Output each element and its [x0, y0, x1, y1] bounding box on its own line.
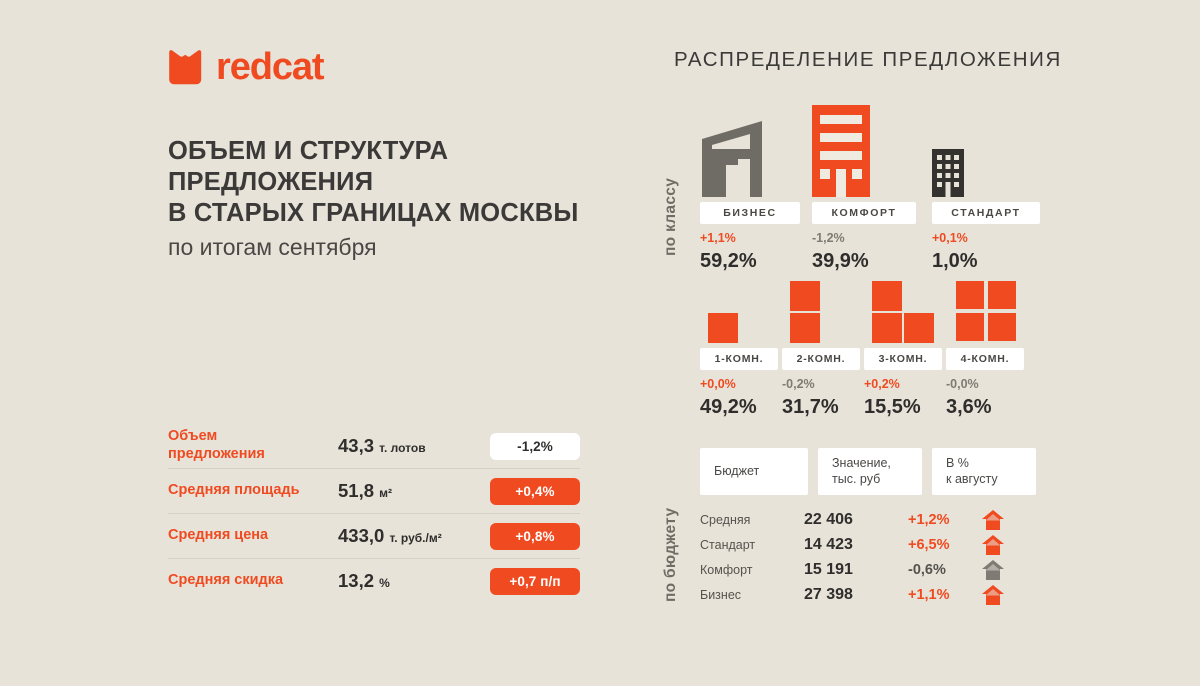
class-delta-comfort: -1,2% [812, 232, 932, 245]
class-chip-standard: СТАНДАРТ [932, 202, 1040, 224]
rooms-delta-2: -0,2% [782, 378, 864, 391]
house-icon [982, 585, 1008, 605]
metric-unit: % [379, 576, 390, 590]
budget-row-pct: +1,2% [908, 512, 982, 528]
budget-row: Бизнес 27 398 +1,1% [700, 582, 1090, 607]
rooms-share-1: 49,2% [700, 397, 782, 417]
metric-number: 433,0 [338, 525, 384, 546]
budget-header-value-line2: тыс. руб [832, 472, 891, 488]
metric-number: 51,8 [338, 480, 374, 501]
axis-label-by-budget: по бюджету [662, 452, 680, 602]
by-class-cells: БИЗНЕС +1,1% 59,2% КОМФОРТ -1,2% 39,9% С… [700, 202, 1080, 271]
by-rooms-section: 1-КОМН. +0,0% 49,2% 2-КОМН. -0,2% 31,7% … [700, 288, 1080, 417]
metric-label: Объемпредложения [168, 428, 338, 463]
budget-header-name-line1: Бюджет [714, 464, 759, 480]
redcat-logo-mark-icon [168, 49, 202, 85]
rooms-cell-4: 4-КОМН. -0,0% 3,6% [946, 348, 1028, 417]
metric-value: 51,8 м² [338, 480, 490, 502]
page-subtitle: по итогам сентября [168, 234, 638, 262]
rooms-3-blocks-icon [872, 281, 934, 348]
metric-label: Средняя цена [168, 527, 338, 545]
rooms-cell-1: 1-КОМН. +0,0% 49,2% [700, 348, 782, 417]
metric-unit: м² [379, 486, 392, 500]
axis-label-by-class: по классу [662, 136, 680, 256]
budget-header-value-line1: Значение, [832, 456, 891, 472]
budget-row-name: Средняя [700, 513, 804, 527]
budget-row-name: Бизнес [700, 588, 804, 602]
budget-row-pct: +1,1% [908, 587, 982, 603]
right-column: РАСПРЕДЕЛЕНИЕ ПРЕДЛОЖЕНИЯ по классу [660, 48, 1080, 72]
metric-value: 13,2 % [338, 570, 490, 592]
by-rooms-cells: 1-КОМН. +0,0% 49,2% 2-КОМН. -0,2% 31,7% … [700, 348, 1080, 417]
metric-change-badge: -1,2% [490, 433, 580, 460]
rooms-delta-1: +0,0% [700, 378, 782, 391]
budget-row: Средняя 22 406 +1,2% [700, 507, 1090, 532]
metric-number: 43,3 [338, 435, 374, 456]
metric-change-badge: +0,4% [490, 478, 580, 505]
metric-number: 13,2 [338, 570, 374, 591]
brand-name: redcat [216, 48, 323, 86]
budget-row-value: 27 398 [804, 586, 908, 604]
budget-row-name: Комфорт [700, 563, 804, 577]
rooms-chip-3: 3-КОМН. [864, 348, 942, 370]
class-share-business: 59,2% [700, 251, 812, 271]
budget-table-header: Бюджет Значение, тыс. руб В % к августу [700, 448, 1090, 495]
rooms-delta-3: +0,2% [864, 378, 946, 391]
distribution-heading: РАСПРЕДЕЛЕНИЕ ПРЕДЛОЖЕНИЯ [674, 48, 1080, 72]
key-metrics-table: Объемпредложения 43,3 т. лотов -1,2% Сре… [168, 424, 580, 603]
house-icon [982, 510, 1008, 530]
metric-row: Средняя площадь 51,8 м² +0,4% [168, 468, 580, 513]
rooms-delta-4: -0,0% [946, 378, 1028, 391]
rooms-chip-4: 4-КОМН. [946, 348, 1024, 370]
budget-header-pct-line1: В % [946, 456, 998, 472]
class-share-comfort: 39,9% [812, 251, 932, 271]
by-rooms-icons [700, 288, 1080, 348]
rooms-cell-2: 2-КОМН. -0,2% 31,7% [782, 348, 864, 417]
budget-row-value: 22 406 [804, 511, 908, 529]
budget-row-name: Стандарт [700, 538, 804, 552]
metric-value: 433,0 т. руб./м² [338, 525, 490, 547]
rooms-chip-1: 1-КОМН. [700, 348, 778, 370]
comfort-building-icon [812, 105, 870, 202]
budget-row-value: 14 423 [804, 536, 908, 554]
rooms-cell-3: 3-КОМН. +0,2% 15,5% [864, 348, 946, 417]
title-line-2: ПРЕДЛОЖЕНИЯ [168, 167, 638, 198]
metric-change-badge: +0,7 п/п [490, 568, 580, 595]
budget-row-pct: +6,5% [908, 537, 982, 553]
class-delta-standard: +0,1% [932, 232, 1042, 245]
rooms-chip-2: 2-КОМН. [782, 348, 860, 370]
class-share-standard: 1,0% [932, 251, 1042, 271]
class-chip-comfort: КОМФОРТ [812, 202, 916, 224]
budget-table-body: Средняя 22 406 +1,2% Стандарт 14 423 +6,… [700, 507, 1090, 607]
budget-header-pct-line2: к августу [946, 472, 998, 488]
brand-logo: redcat [168, 44, 638, 90]
title-line-1: ОБЪЕМ И СТРУКТУРА [168, 136, 638, 167]
metric-label: Средняя площадь [168, 482, 338, 500]
metric-row: Объемпредложения 43,3 т. лотов -1,2% [168, 424, 580, 468]
house-icon [982, 560, 1008, 580]
metric-label: Средняя скидка [168, 572, 338, 590]
metric-unit: т. руб./м² [389, 531, 441, 545]
budget-header-name: Бюджет [700, 448, 808, 495]
rooms-4-blocks-icon [956, 281, 1018, 348]
infographic-page: redcat ОБЪЕМ И СТРУКТУРА ПРЕДЛОЖЕНИЯ В С… [0, 0, 1200, 686]
budget-row-pct: -0,6% [908, 562, 982, 578]
house-icon [982, 535, 1008, 555]
metric-row: Средняя цена 433,0 т. руб./м² +0,8% [168, 513, 580, 558]
class-cell-business: БИЗНЕС +1,1% 59,2% [700, 202, 812, 271]
budget-header-value: Значение, тыс. руб [818, 448, 922, 495]
business-building-icon [700, 119, 768, 202]
metric-value: 43,3 т. лотов [338, 435, 490, 457]
class-cell-comfort: КОМФОРТ -1,2% 39,9% [812, 202, 932, 271]
by-class-icons [700, 110, 1080, 202]
left-column: redcat ОБЪЕМ И СТРУКТУРА ПРЕДЛОЖЕНИЯ В С… [168, 44, 638, 90]
class-delta-business: +1,1% [700, 232, 812, 245]
rooms-share-2: 31,7% [782, 397, 864, 417]
page-title: ОБЪЕМ И СТРУКТУРА ПРЕДЛОЖЕНИЯ В СТАРЫХ Г… [168, 136, 638, 261]
rooms-1-blocks-icon [708, 313, 738, 348]
rooms-share-4: 3,6% [946, 397, 1028, 417]
budget-row: Стандарт 14 423 +6,5% [700, 532, 1090, 557]
rooms-share-3: 15,5% [864, 397, 946, 417]
class-chip-business: БИЗНЕС [700, 202, 800, 224]
standard-building-icon [932, 149, 964, 202]
budget-row-value: 15 191 [804, 561, 908, 579]
metric-row: Средняя скидка 13,2 % +0,7 п/п [168, 558, 580, 603]
budget-header-pct: В % к августу [932, 448, 1036, 495]
metric-change-badge: +0,8% [490, 523, 580, 550]
class-cell-standard: СТАНДАРТ +0,1% 1,0% [932, 202, 1042, 271]
metric-unit: т. лотов [379, 441, 425, 455]
budget-row: Комфорт 15 191 -0,6% [700, 557, 1090, 582]
by-budget-section: Бюджет Значение, тыс. руб В % к августу [700, 448, 1090, 607]
by-class-section: БИЗНЕС +1,1% 59,2% КОМФОРТ -1,2% 39,9% С… [700, 110, 1080, 271]
rooms-2-blocks-icon [790, 281, 820, 348]
title-line-3: В СТАРЫХ ГРАНИЦАХ МОСКВЫ [168, 198, 638, 229]
